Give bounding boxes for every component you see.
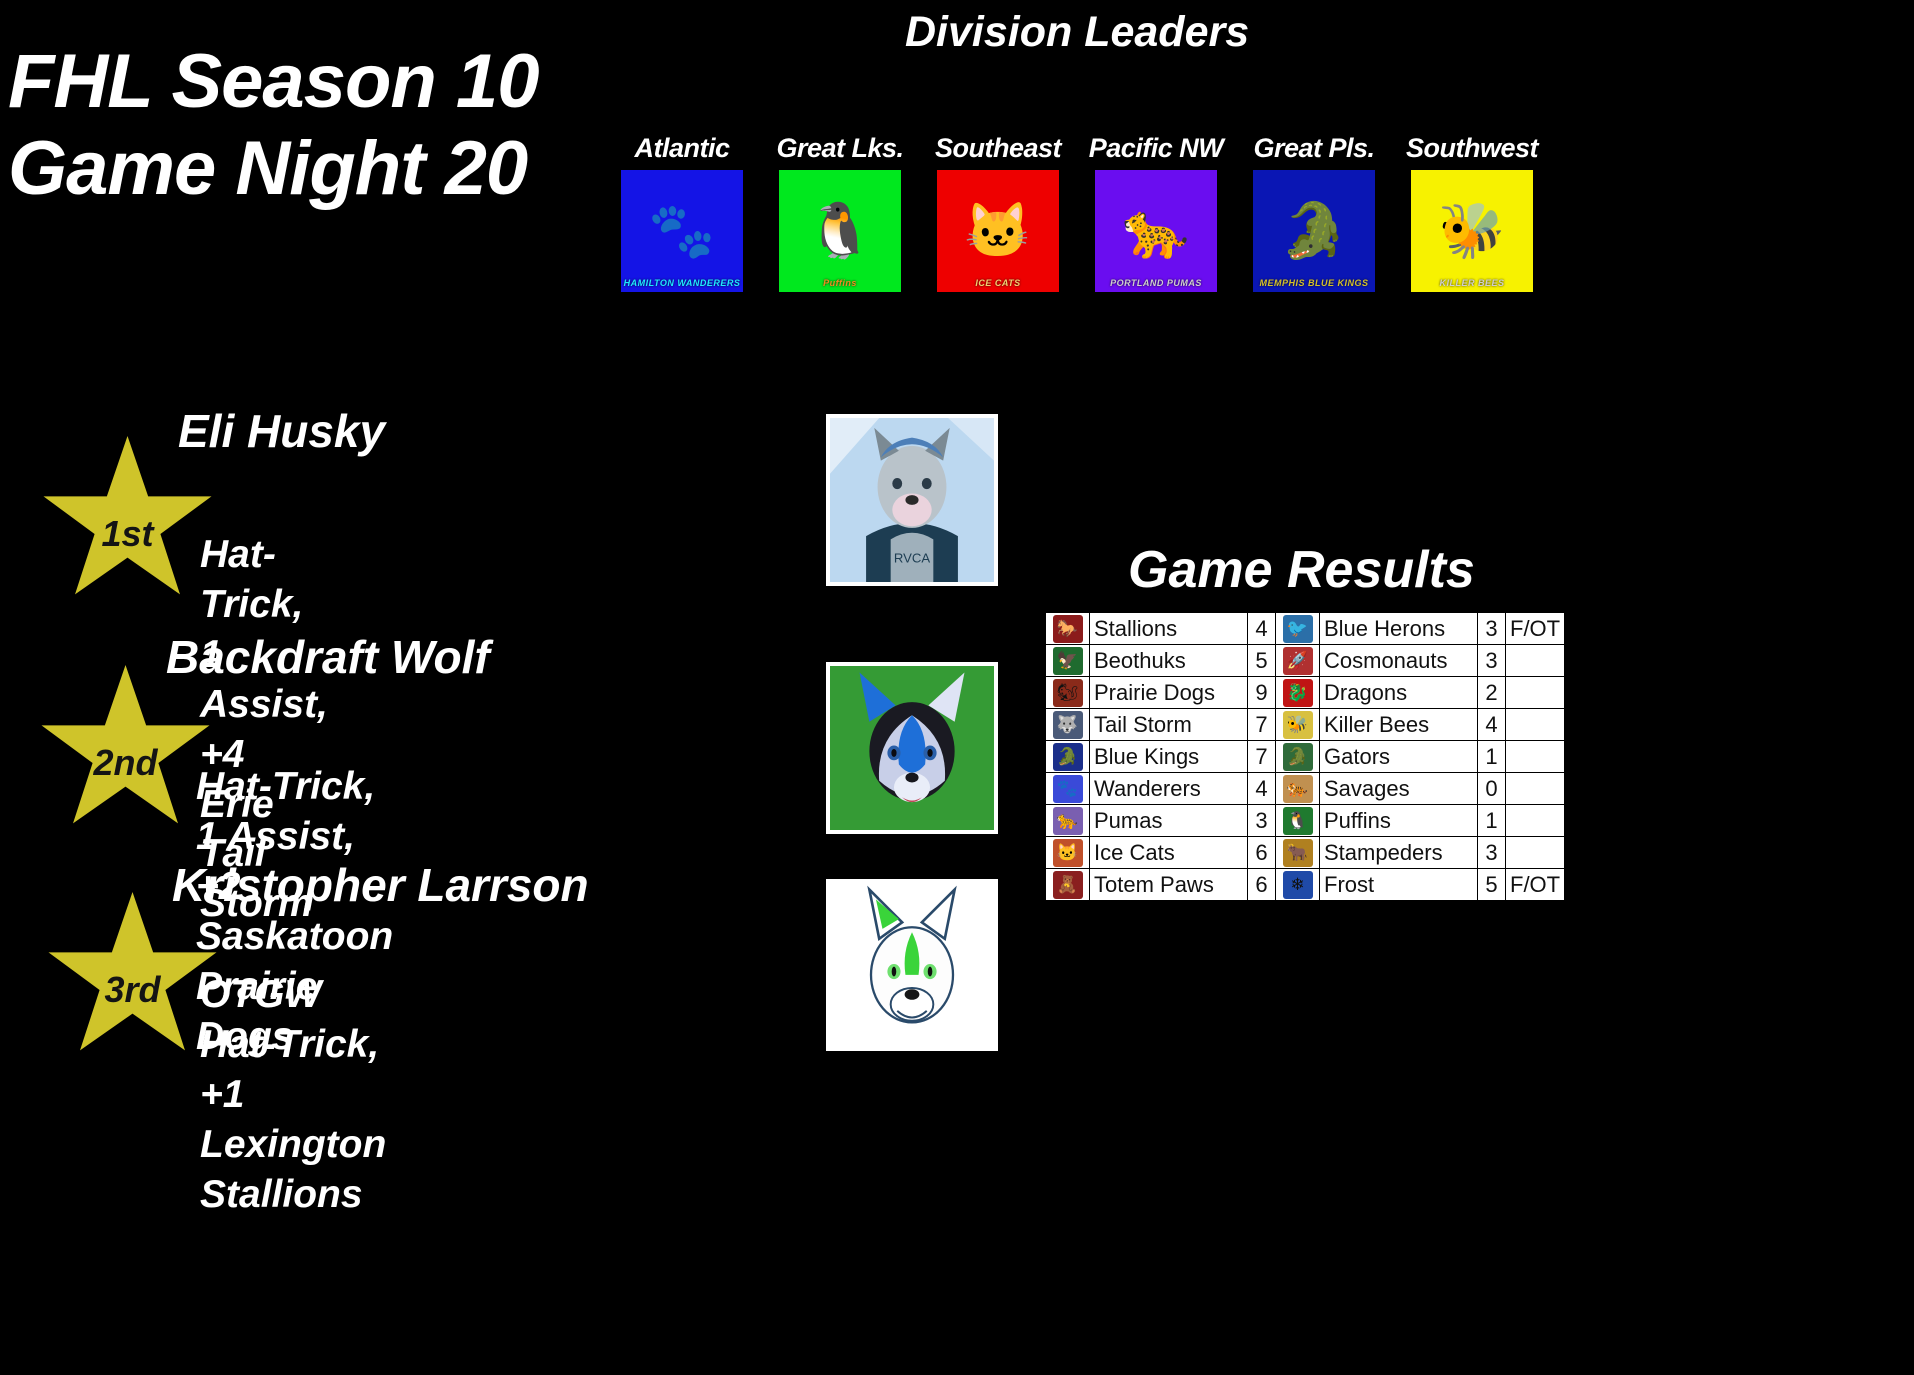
home-team-logo-icon: 🐊 xyxy=(1046,741,1090,773)
first-star-player-name: Eli Husky xyxy=(178,404,385,458)
division-leader-cell: Pacific NW🐆PORTLAND PUMAS xyxy=(1086,133,1226,292)
home-team-score: 6 xyxy=(1248,869,1276,901)
game-results-heading: Game Results xyxy=(1128,540,1475,600)
home-team-name: Wanderers xyxy=(1090,773,1248,805)
team-mascot-icon: 🐧 xyxy=(779,170,901,292)
home-team-logo-icon: 🧸 xyxy=(1046,869,1090,901)
division-leader-cell: Great Pls.🐊MEMPHIS BLUE KINGS xyxy=(1244,133,1384,292)
home-team-name: Tail Storm xyxy=(1090,709,1248,741)
home-team-logo-icon: 🐎 xyxy=(1046,613,1090,645)
table-row: 🦅Beothuks5🚀Cosmonauts3 xyxy=(1046,645,1565,677)
away-team-score: 1 xyxy=(1478,805,1506,837)
away-team-logo-icon: 🐅 xyxy=(1276,773,1320,805)
division-leader-cell: Southwest🐝KILLER BEES xyxy=(1402,133,1542,292)
team-logo-icon: 🐱ICE CATS xyxy=(937,170,1059,292)
home-team-name: Stallions xyxy=(1090,613,1248,645)
third-star-stats: OTGW Hat-Trick, +1 Lexington Stallions xyxy=(200,970,386,1220)
away-team-logo-icon: 🐧 xyxy=(1276,805,1320,837)
third-star-player-name: Kristopher Larrson xyxy=(172,858,589,912)
second-star-player-name: Backdraft Wolf xyxy=(166,630,490,684)
team-wordmark: MEMPHIS BLUE KINGS xyxy=(1253,278,1375,288)
away-team-name: Dragons xyxy=(1320,677,1478,709)
team-mascot-icon: 🐆 xyxy=(1095,170,1217,292)
game-results-table: 🐎Stallions4🐦Blue Herons3F/OT🦅Beothuks5🚀C… xyxy=(1045,612,1565,901)
team-wordmark: HAMILTON WANDERERS xyxy=(621,278,743,288)
home-team-logo-icon: 🐾 xyxy=(1046,773,1090,805)
team-logo-icon: 🐆PORTLAND PUMAS xyxy=(1095,170,1217,292)
team-mascot-icon: 🐾 xyxy=(621,170,743,292)
overtime-note xyxy=(1506,773,1565,805)
overtime-note xyxy=(1506,837,1565,869)
away-team-score: 3 xyxy=(1478,645,1506,677)
division-label: Great Lks. xyxy=(776,133,903,164)
division-leader-cell: Southeast🐱ICE CATS xyxy=(928,133,1068,292)
away-team-name: Killer Bees xyxy=(1320,709,1478,741)
away-team-logo-icon: 🐦 xyxy=(1276,613,1320,645)
table-row: 🧸Totem Paws6❄Frost5F/OT xyxy=(1046,869,1565,901)
away-team-logo-icon: 🐉 xyxy=(1276,677,1320,709)
division-label: Southwest xyxy=(1406,133,1538,164)
home-team-score: 7 xyxy=(1248,741,1276,773)
wolf-portrait-art xyxy=(830,666,994,830)
division-leaders-heading: Division Leaders xyxy=(905,8,1249,57)
home-team-name: Beothuks xyxy=(1090,645,1248,677)
away-team-score: 3 xyxy=(1478,613,1506,645)
first-star-badge: 1st xyxy=(40,436,215,611)
second-star-badge: 2nd xyxy=(38,665,213,840)
team-wordmark: PORTLAND PUMAS xyxy=(1095,278,1217,288)
home-team-score: 5 xyxy=(1248,645,1276,677)
table-row: 🐺Tail Storm7🐝Killer Bees4 xyxy=(1046,709,1565,741)
overtime-note xyxy=(1506,741,1565,773)
team-wordmark: ICE CATS xyxy=(937,278,1059,288)
home-team-name: Totem Paws xyxy=(1090,869,1248,901)
away-team-name: Cosmonauts xyxy=(1320,645,1478,677)
kristopher-larrson-portrait xyxy=(826,879,998,1051)
home-team-logo-icon: 🐿 xyxy=(1046,677,1090,709)
table-row: 🐿Prairie Dogs9🐉Dragons2 xyxy=(1046,677,1565,709)
third-star-badge: 3rd xyxy=(45,892,220,1067)
overtime-note xyxy=(1506,677,1565,709)
team-mascot-icon: 🐝 xyxy=(1411,170,1533,292)
home-team-logo-icon: 🐆 xyxy=(1046,805,1090,837)
third-star-rank: 3rd xyxy=(104,969,160,1011)
away-team-name: Savages xyxy=(1320,773,1478,805)
page-title: FHL Season 10 Game Night 20 xyxy=(8,38,538,213)
table-row: 🐾Wanderers4🐅Savages0 xyxy=(1046,773,1565,805)
away-team-score: 3 xyxy=(1478,837,1506,869)
home-team-name: Prairie Dogs xyxy=(1090,677,1248,709)
home-team-score: 6 xyxy=(1248,837,1276,869)
away-team-logo-icon: ❄ xyxy=(1276,869,1320,901)
away-team-score: 2 xyxy=(1478,677,1506,709)
division-leader-cell: Great Lks.🐧Puffins xyxy=(770,133,910,292)
home-team-score: 3 xyxy=(1248,805,1276,837)
away-team-score: 5 xyxy=(1478,869,1506,901)
second-star-rank: 2nd xyxy=(93,742,157,784)
away-team-logo-icon: 🐝 xyxy=(1276,709,1320,741)
team-logo-icon: 🐧Puffins xyxy=(779,170,901,292)
team-logo-icon: 🐊MEMPHIS BLUE KINGS xyxy=(1253,170,1375,292)
away-team-score: 0 xyxy=(1478,773,1506,805)
overtime-note xyxy=(1506,805,1565,837)
division-leaders-row: Atlantic🐾HAMILTON WANDERERSGreat Lks.🐧Pu… xyxy=(612,133,1542,292)
team-logo-icon: 🐝KILLER BEES xyxy=(1411,170,1533,292)
away-team-score: 1 xyxy=(1478,741,1506,773)
home-team-score: 4 xyxy=(1248,613,1276,645)
home-team-name: Ice Cats xyxy=(1090,837,1248,869)
table-row: 🐱Ice Cats6🐂Stampeders3 xyxy=(1046,837,1565,869)
overtime-note xyxy=(1506,709,1565,741)
away-team-logo-icon: 🚀 xyxy=(1276,645,1320,677)
first-star-rank: 1st xyxy=(101,513,153,555)
team-mascot-icon: 🐱 xyxy=(937,170,1059,292)
home-team-logo-icon: 🦅 xyxy=(1046,645,1090,677)
away-team-name: Gators xyxy=(1320,741,1478,773)
division-leader-cell: Atlantic🐾HAMILTON WANDERERS xyxy=(612,133,752,292)
team-logo-icon: 🐾HAMILTON WANDERERS xyxy=(621,170,743,292)
division-label: Atlantic xyxy=(634,133,729,164)
backdraft-wolf-portrait xyxy=(826,662,998,834)
eli-husky-portrait: RVCA xyxy=(826,414,998,586)
home-team-logo-icon: 🐱 xyxy=(1046,837,1090,869)
home-team-score: 4 xyxy=(1248,773,1276,805)
away-team-logo-icon: 🐊 xyxy=(1276,741,1320,773)
overtime-note xyxy=(1506,645,1565,677)
svg-text:RVCA: RVCA xyxy=(894,550,930,565)
table-row: 🐎Stallions4🐦Blue Herons3F/OT xyxy=(1046,613,1565,645)
away-team-logo-icon: 🐂 xyxy=(1276,837,1320,869)
poster-root: FHL Season 10 Game Night 20 Division Lea… xyxy=(0,0,1914,1375)
white-wolf-portrait-art xyxy=(830,883,994,1047)
home-team-score: 9 xyxy=(1248,677,1276,709)
home-team-logo-icon: 🐺 xyxy=(1046,709,1090,741)
husky-portrait-art: RVCA xyxy=(830,418,994,582)
home-team-name: Pumas xyxy=(1090,805,1248,837)
team-wordmark: Puffins xyxy=(779,278,901,288)
team-mascot-icon: 🐊 xyxy=(1253,170,1375,292)
table-row: 🐊Blue Kings7🐊Gators1 xyxy=(1046,741,1565,773)
away-team-name: Puffins xyxy=(1320,805,1478,837)
overtime-note: F/OT xyxy=(1506,869,1565,901)
division-label: Pacific NW xyxy=(1089,133,1224,164)
away-team-score: 4 xyxy=(1478,709,1506,741)
division-label: Great Pls. xyxy=(1253,133,1374,164)
away-team-name: Blue Herons xyxy=(1320,613,1478,645)
away-team-name: Frost xyxy=(1320,869,1478,901)
overtime-note: F/OT xyxy=(1506,613,1565,645)
division-label: Southeast xyxy=(935,133,1061,164)
team-wordmark: KILLER BEES xyxy=(1411,278,1533,288)
away-team-name: Stampeders xyxy=(1320,837,1478,869)
home-team-name: Blue Kings xyxy=(1090,741,1248,773)
home-team-score: 7 xyxy=(1248,709,1276,741)
table-row: 🐆Pumas3🐧Puffins1 xyxy=(1046,805,1565,837)
